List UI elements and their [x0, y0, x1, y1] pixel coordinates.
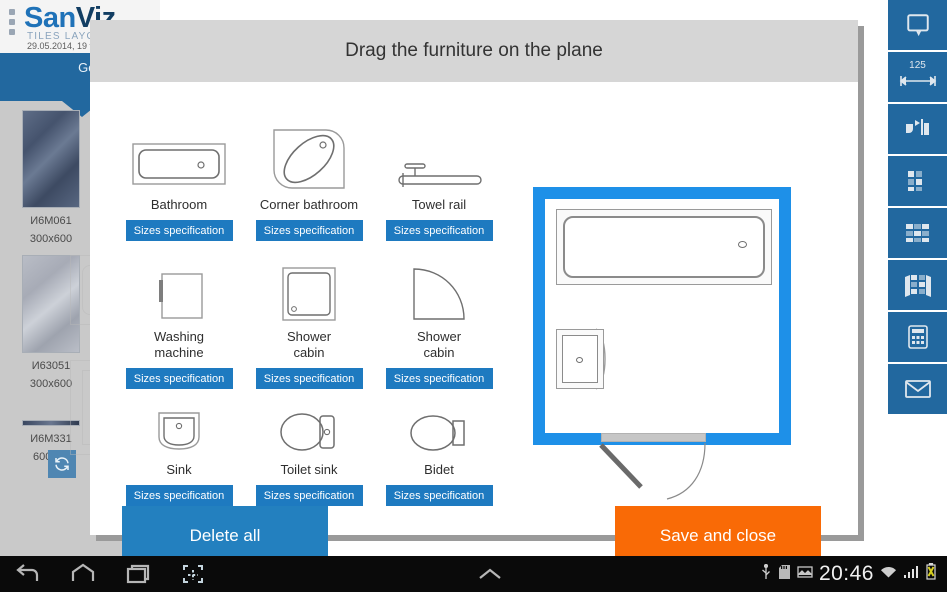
furniture-item-bidet[interactable]: Bidet Sizes specification	[374, 389, 504, 513]
sizes-specification-button[interactable]: Sizes specification	[386, 220, 493, 241]
image-icon	[797, 565, 813, 584]
sizes-specification-button[interactable]: Sizes specification	[126, 368, 233, 389]
tile-size: 300x600	[22, 233, 80, 245]
measure-value: 125	[888, 60, 947, 71]
furniture-item-toilet-sink[interactable]: Toilet sink Sizes specification	[244, 389, 374, 513]
furniture-plan-icon	[904, 116, 932, 142]
home-icon[interactable]	[55, 563, 110, 585]
tile-grid-2x3-icon	[905, 168, 931, 194]
bathtub-basin	[563, 216, 765, 278]
furniture-label: Shower cabin	[287, 329, 331, 361]
battery-icon	[925, 563, 937, 585]
furniture-label-line1: Shower	[417, 329, 461, 344]
list-item[interactable]: И6М061 300x600	[22, 110, 80, 245]
furniture-tool[interactable]	[888, 104, 947, 154]
sizes-specification-button[interactable]: Sizes specification	[256, 485, 363, 506]
room-unfold-icon	[903, 271, 933, 299]
furniture-label: Washing machine	[154, 329, 204, 361]
washing-machine-icon[interactable]	[154, 256, 204, 322]
furniture-label: Bathroom	[151, 197, 207, 213]
furniture-label-line2: machine	[154, 345, 203, 360]
tile-grid-3x3-icon	[904, 220, 932, 246]
sizes-specification-button[interactable]: Sizes specification	[386, 368, 493, 389]
sizes-specification-button[interactable]: Sizes specification	[126, 220, 233, 241]
android-navbar: 20:46	[0, 556, 947, 592]
status-clock: 20:46	[819, 562, 874, 586]
door-swing-arc	[653, 441, 713, 501]
bidet-icon[interactable]	[408, 389, 470, 455]
brand-name-light: San	[24, 2, 76, 34]
furniture-label: Corner bathroom	[260, 197, 358, 213]
tiles-tool[interactable]	[888, 208, 947, 258]
furniture-grid: Bathroom Sizes specification Corner bath…	[114, 124, 504, 513]
door-leaf	[599, 443, 645, 489]
calculator-icon	[906, 324, 930, 350]
furniture-item-shower-cabin-square[interactable]: Shower cabin Sizes specification	[244, 256, 374, 389]
sink-drain-icon	[576, 357, 583, 363]
sink-icon[interactable]	[154, 389, 204, 455]
chevron-up-icon[interactable]	[462, 565, 517, 583]
sd-card-icon	[778, 564, 791, 585]
dialog-header: Drag the furniture on the plane	[90, 20, 858, 82]
room-walls	[533, 187, 791, 445]
status-bar: 20:46	[760, 562, 947, 586]
room-floor[interactable]	[545, 199, 779, 433]
right-toolbar: 125	[888, 0, 947, 556]
calculator-tool[interactable]	[888, 312, 947, 362]
furniture-label-line1: Shower	[287, 329, 331, 344]
furniture-label: Sink	[166, 462, 191, 478]
comment-tool[interactable]	[888, 0, 947, 50]
sizes-specification-button[interactable]: Sizes specification	[256, 220, 363, 241]
tile-code: И6М061	[22, 215, 80, 227]
back-icon[interactable]	[0, 563, 55, 585]
sizes-specification-button[interactable]: Sizes specification	[256, 368, 363, 389]
screenshot-icon[interactable]	[165, 563, 220, 585]
wifi-icon	[880, 564, 897, 585]
bathtub-icon[interactable]	[131, 124, 227, 190]
usb-icon	[760, 564, 772, 585]
shower-cabin-square-icon[interactable]	[281, 256, 337, 322]
dialog-body: Bathroom Sizes specification Corner bath…	[90, 82, 858, 535]
furniture-label-line2: cabin	[423, 345, 454, 360]
sizes-specification-button[interactable]: Sizes specification	[126, 485, 233, 506]
sizes-specification-button[interactable]: Sizes specification	[386, 485, 493, 506]
furniture-label: Toilet sink	[280, 462, 337, 478]
furniture-label: Towel rail	[412, 197, 466, 213]
bathtub-drain-icon	[738, 241, 747, 248]
furniture-label-line1: Washing	[154, 329, 204, 344]
furniture-item-shower-cabin-quarter[interactable]: Shower cabin Sizes specification	[374, 256, 504, 389]
screen: SanViz TILES LAYOUT 29.05.2014, 19 fps G…	[0, 0, 947, 592]
shower-cabin-quarter-icon[interactable]	[411, 256, 467, 322]
furniture-item-towel-rail[interactable]: Towel rail Sizes specification	[374, 124, 504, 256]
signal-icon	[903, 564, 919, 585]
placed-sink[interactable]	[556, 329, 604, 389]
layout-tool[interactable]	[888, 156, 947, 206]
furniture-item-sink[interactable]: Sink Sizes specification	[114, 389, 244, 513]
furniture-item-corner-bathroom[interactable]: Corner bathroom Sizes specification	[244, 124, 374, 256]
furniture-label: Shower cabin	[417, 329, 461, 361]
measure-tool[interactable]: 125	[888, 52, 947, 102]
page-title: Drag the furniture on the plane	[345, 40, 603, 62]
tile-swatch[interactable]	[22, 110, 80, 208]
floor-plan-canvas[interactable]	[533, 187, 803, 487]
furniture-label-line2: cabin	[293, 345, 324, 360]
furniture-item-washing-machine[interactable]: Washing machine Sizes specification	[114, 256, 244, 389]
furniture-label: Bidet	[424, 462, 454, 478]
recents-icon[interactable]	[110, 563, 165, 585]
toilet-icon[interactable]	[278, 389, 340, 455]
envelope-icon	[904, 377, 932, 401]
menu-dots-icon[interactable]	[9, 9, 15, 39]
furniture-item-bathroom[interactable]: Bathroom Sizes specification	[114, 124, 244, 256]
furniture-dialog: Drag the furniture on the plane	[90, 20, 858, 535]
speech-bubble-icon	[905, 12, 931, 38]
placed-bathtub[interactable]	[556, 209, 772, 285]
unfold-tool[interactable]	[888, 260, 947, 310]
mail-tool[interactable]	[888, 364, 947, 414]
towel-rail-icon[interactable]	[393, 124, 485, 190]
corner-bathtub-icon[interactable]	[272, 124, 346, 190]
